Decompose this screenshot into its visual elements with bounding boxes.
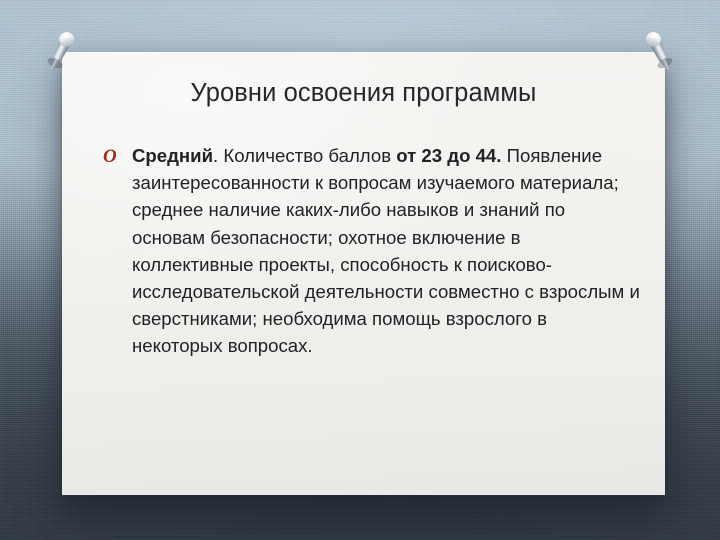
slide-content: Уровни освоения программы O Средний. Кол… xyxy=(62,52,665,495)
bullet-item-text: Средний. Количество баллов от 23 до 44. … xyxy=(132,145,640,356)
bullet-segment-level-name: Средний xyxy=(132,145,213,166)
slide-title: Уровни освоения программы xyxy=(98,78,629,108)
bullet-segment-score-label: . Количество баллов xyxy=(213,145,396,166)
paper-sheet: Уровни освоения программы O Средний. Кол… xyxy=(62,52,665,495)
bullet-segment-score-range: от 23 до 44. xyxy=(396,145,501,166)
ring-bullet-icon: O xyxy=(103,143,117,170)
bullet-list: O Средний. Количество баллов от 23 до 44… xyxy=(100,142,640,360)
slide-canvas: Уровни освоения программы O Средний. Кол… xyxy=(0,0,720,540)
bullet-segment-description: Появление заинтересованности к вопросам … xyxy=(132,145,640,356)
bullet-item: O Средний. Количество баллов от 23 до 44… xyxy=(100,142,640,360)
